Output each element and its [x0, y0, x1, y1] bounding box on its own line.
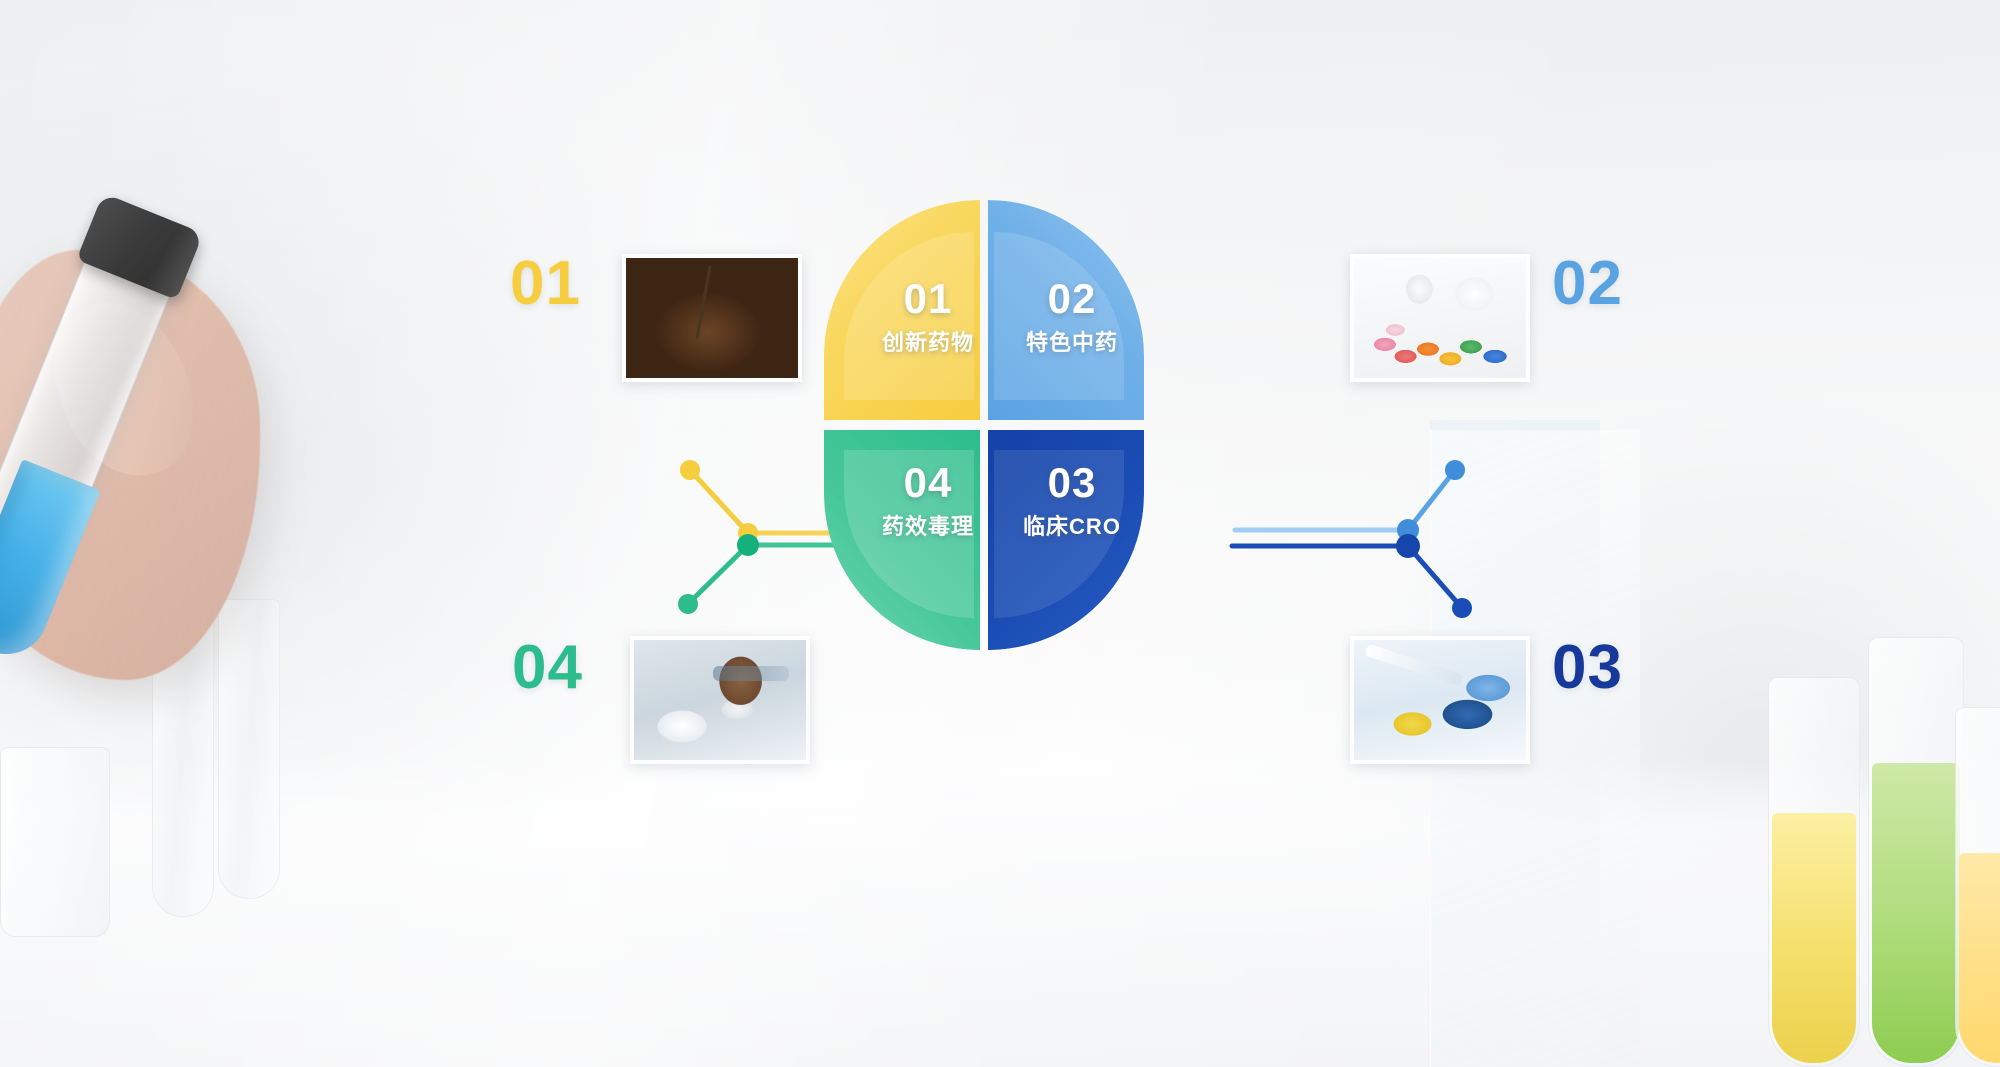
connector-02-diagonal [1408, 470, 1455, 530]
thumbnail-card-02[interactable] [1350, 254, 1530, 382]
connector-02-inner-dot [1397, 519, 1419, 541]
side-number-03: 03 [1552, 632, 1623, 703]
connector-01-outer-dot [680, 460, 700, 480]
infographic-stage: 01 创新药物 02 特色中药 04 药效毒理 03 临床CRO 01 02 0… [0, 0, 2000, 1067]
side-number-02: 02 [1552, 248, 1623, 319]
connector-04-inner-dot [737, 534, 759, 556]
side-number-04: 04 [512, 632, 583, 703]
quadrant-02-fill [988, 200, 1144, 420]
quadrant-02-tcm[interactable] [988, 200, 1144, 420]
quadrant-02-inner-panel [994, 232, 1124, 400]
lab-researcher-photo [634, 640, 806, 760]
gloved-hands-pipette-photo [1354, 640, 1526, 760]
connector-03-outer-dot [1452, 598, 1472, 618]
colored-pills-photo [1354, 258, 1526, 378]
side-number-01: 01 [510, 248, 581, 319]
connector-02-outer-dot [1445, 460, 1465, 480]
connector-01-diagonal [690, 470, 748, 533]
connector-04-outer-dot [678, 594, 698, 614]
thumbnail-card-01[interactable] [622, 254, 802, 382]
quadrant-circle: 01 创新药物 02 特色中药 04 药效毒理 03 临床CRO [824, 200, 1144, 650]
quadrant-03-inner-panel [994, 450, 1124, 618]
quadrant-04-fill [824, 430, 980, 650]
quadrant-04-pharmacology[interactable] [824, 430, 980, 650]
quadrant-01-fill [824, 200, 980, 420]
herbal-medicine-photo [626, 258, 798, 378]
quadrant-04-inner-panel [844, 450, 974, 618]
connector-04-diagonal [688, 545, 748, 604]
quadrant-01-creative-drugs[interactable] [824, 200, 980, 420]
quadrant-01-inner-panel [844, 232, 974, 400]
thumbnail-card-04[interactable] [630, 636, 810, 764]
quadrant-03-clinical-cro[interactable] [988, 430, 1144, 650]
connector-03-inner-dot [1396, 534, 1420, 558]
connector-03-diagonal [1408, 546, 1462, 608]
connector-01-inner-dot [738, 523, 758, 543]
thumbnail-card-03[interactable] [1350, 636, 1530, 764]
quadrant-03-fill [988, 430, 1144, 650]
